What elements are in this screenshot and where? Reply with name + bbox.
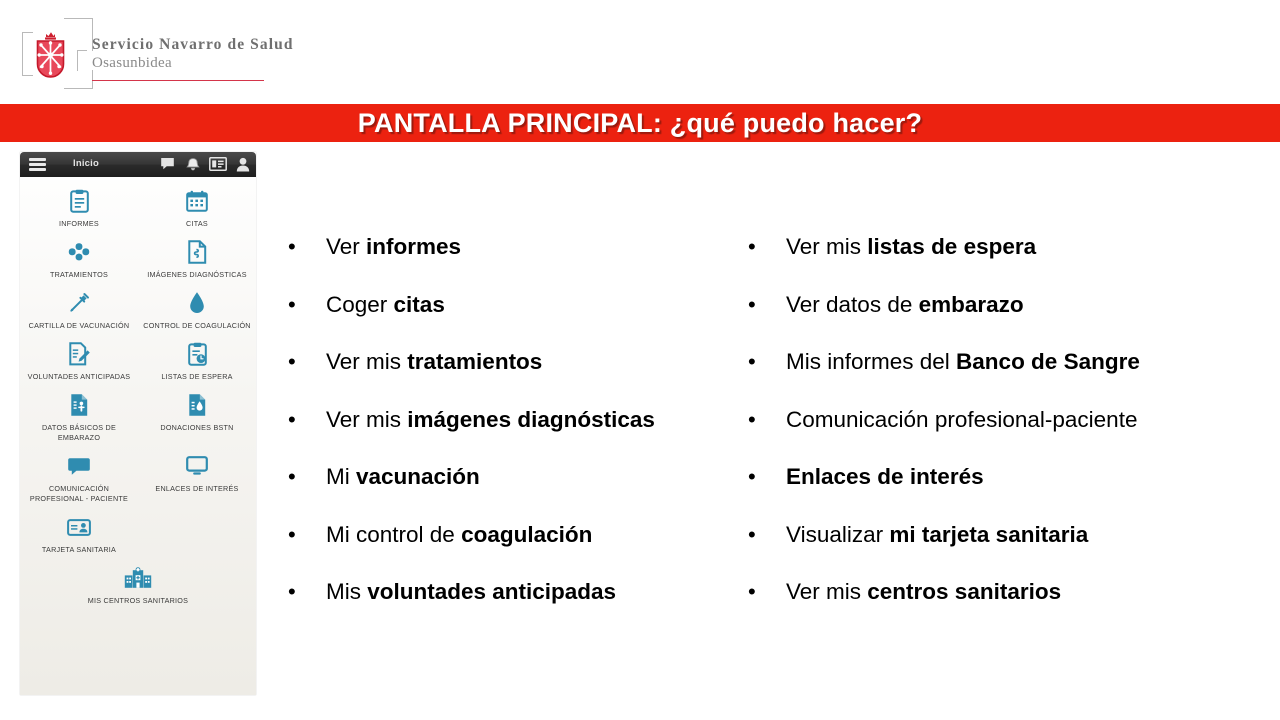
list-item-plain: Ver	[326, 234, 366, 259]
list-item-text: Ver informes	[326, 232, 461, 262]
app-tile-imagenes-diagnosticas[interactable]: IMÁGENES DIAGNÓSTICAS	[138, 235, 256, 286]
app-grid-row: DATOS BÁSICOS DE EMBARAZO	[20, 388, 256, 449]
document-baby-icon	[70, 392, 89, 418]
bullet-glyph: •	[280, 577, 326, 607]
list-item-text: Ver datos de embarazo	[786, 290, 1024, 320]
list-item: • Ver mis tratamientos	[280, 347, 750, 405]
list-item-plain: Mis informes del	[786, 349, 956, 374]
list-item-bold: voluntades anticipadas	[367, 579, 616, 604]
bullet-glyph: •	[740, 290, 786, 320]
id-card-icon[interactable]	[209, 157, 227, 171]
bullet-glyph: •	[740, 577, 786, 607]
app-tile-label: VOLUNTADES ANTICIPADAS	[28, 372, 131, 382]
list-item: • Ver mis listas de espera	[740, 232, 1280, 290]
slide-title-band: PANTALLA PRINCIPAL: ¿qué puedo hacer?	[0, 104, 1280, 142]
list-item-text: Ver mis imágenes diagnósticas	[326, 405, 655, 435]
list-item-plain: Ver mis	[786, 234, 867, 259]
app-tile-tratamientos[interactable]: TRATAMIENTOS	[20, 235, 138, 286]
app-grid-row: CARTILLA DE VACUNACIÓN CONTROL DE COAGUL…	[20, 286, 256, 337]
health-card-icon	[67, 514, 91, 540]
logo-line-servicio: Servicio Navarro de Salud	[92, 36, 292, 54]
list-item-bold: Enlaces de interés	[786, 464, 984, 489]
clipboard-clock-icon	[188, 341, 207, 367]
app-tile-enlaces-interes[interactable]: ENLACES DE INTERÉS	[138, 449, 256, 510]
list-item: • Mis informes del Banco de Sangre	[740, 347, 1280, 405]
blood-drop-icon	[189, 290, 205, 316]
list-item-plain: Ver mis	[786, 579, 867, 604]
app-tile-control-coagulacion[interactable]: CONTROL DE COAGULACIÓN	[138, 286, 256, 337]
logo-bracket-mid	[77, 50, 87, 71]
list-item-text: Ver mis centros sanitarios	[786, 577, 1061, 607]
list-item: • Coger citas	[280, 290, 750, 348]
logo-line-osasunbidea: Osasunbidea	[92, 54, 292, 73]
app-tile-label: DATOS BÁSICOS DE EMBARAZO	[25, 423, 133, 443]
bullet-glyph: •	[740, 405, 786, 435]
mobile-app-screenshot: Inicio	[20, 152, 256, 695]
bell-icon[interactable]	[185, 157, 201, 172]
syringe-icon	[68, 290, 90, 316]
list-item-bold: centros sanitarios	[867, 579, 1061, 604]
navarra-coat-of-arms-icon	[32, 29, 78, 79]
app-grid-row: TARJETA SANITARIA	[20, 510, 256, 561]
list-item-bold: coagulación	[461, 522, 592, 547]
app-tile-label: CONTROL DE COAGULACIÓN	[143, 321, 250, 331]
list-item: • Ver datos de embarazo	[740, 290, 1280, 348]
app-icon-grid: INFORMES CITAS	[20, 177, 256, 612]
bullet-glyph: •	[740, 520, 786, 550]
monitor-icon	[186, 453, 208, 479]
app-grid-row: MIS CENTROS SANITARIOS	[20, 561, 256, 612]
app-grid-row: VOLUNTADES ANTICIPADAS LISTAS DE ESPERA	[20, 337, 256, 388]
document-pencil-icon	[69, 341, 90, 367]
bullet-glyph: •	[280, 232, 326, 262]
logo-text-block: Servicio Navarro de Salud Osasunbidea	[92, 36, 292, 73]
list-item-plain: Mi	[326, 464, 356, 489]
app-grid-row: COMUNICACIÓN PROFESIONAL - PACIENTE ENLA…	[20, 449, 256, 510]
app-tile-informes[interactable]: INFORMES	[20, 184, 138, 235]
user-icon[interactable]	[236, 157, 250, 172]
app-grid-row: INFORMES CITAS	[20, 184, 256, 235]
list-item: • Comunicación profesional-paciente	[740, 405, 1280, 463]
bullet-glyph: •	[280, 290, 326, 320]
list-item-text: Ver mis tratamientos	[326, 347, 542, 377]
app-topbar: Inicio	[20, 152, 256, 177]
calendar-icon	[186, 188, 208, 214]
logo-underline	[92, 80, 264, 81]
app-tile-label: IMÁGENES DIAGNÓSTICAS	[147, 270, 247, 280]
feature-list-right: • Ver mis listas de espera • Ver datos d…	[740, 232, 1280, 635]
page-header: Servicio Navarro de Salud Osasunbidea	[0, 0, 1280, 104]
list-item-text: Ver mis listas de espera	[786, 232, 1036, 262]
app-tile-label: CARTILLA DE VACUNACIÓN	[29, 321, 130, 331]
list-item-text: Comunicación profesional-paciente	[786, 405, 1137, 435]
bullet-glyph: •	[280, 520, 326, 550]
chat-icon[interactable]	[160, 157, 175, 171]
bullet-glyph: •	[280, 405, 326, 435]
app-grid-row: TRATAMIENTOS IMÁGENES DIAGNÓSTICAS	[20, 235, 256, 286]
app-home-label[interactable]: Inicio	[73, 158, 99, 169]
app-tile-comunicacion-profesional-paciente[interactable]: COMUNICACIÓN PROFESIONAL - PACIENTE	[20, 449, 138, 510]
list-item: • Ver mis centros sanitarios	[740, 577, 1280, 635]
document-scan-icon	[188, 239, 207, 265]
list-item-plain: Ver mis	[326, 407, 407, 432]
app-tile-label: TRATAMIENTOS	[50, 270, 108, 280]
document-blood-icon	[188, 392, 207, 418]
app-tile-label: MIS CENTROS SANITARIOS	[88, 596, 188, 606]
bullet-glyph: •	[740, 232, 786, 262]
list-item: • Enlaces de interés	[740, 462, 1280, 520]
app-tile-voluntades-anticipadas[interactable]: VOLUNTADES ANTICIPADAS	[20, 337, 138, 388]
bullet-glyph: •	[740, 462, 786, 492]
list-item-text: Coger citas	[326, 290, 445, 320]
clipboard-icon	[70, 188, 89, 214]
list-item-bold: Banco de Sangre	[956, 349, 1140, 374]
list-item-plain: Mis	[326, 579, 367, 604]
list-item-text: Enlaces de interés	[786, 462, 984, 492]
list-item-plain: Ver mis	[326, 349, 407, 374]
pills-cross-icon	[68, 239, 90, 265]
app-tile-label: DONACIONES BSTN	[160, 423, 233, 433]
app-tile-label: ENLACES DE INTERÉS	[155, 484, 238, 494]
app-tile-datos-embarazo[interactable]: DATOS BÁSICOS DE EMBARAZO	[20, 388, 138, 449]
list-item-text: Visualizar mi tarjeta sanitaria	[786, 520, 1088, 550]
app-tile-listas-espera[interactable]: LISTAS DE ESPERA	[138, 337, 256, 388]
app-tile-cartilla-vacunacion[interactable]: CARTILLA DE VACUNACIÓN	[20, 286, 138, 337]
bullet-glyph: •	[280, 347, 326, 377]
list-item-bold: citas	[394, 292, 445, 317]
app-tile-label: LISTAS DE ESPERA	[161, 372, 232, 382]
feature-list-left: • Ver informes • Coger citas • Ver mis t…	[280, 232, 750, 635]
list-item-text: Mi vacunación	[326, 462, 480, 492]
hospital-icon	[124, 565, 152, 591]
list-item-bold: listas de espera	[867, 234, 1036, 259]
speech-bubble-icon	[68, 453, 90, 479]
app-tile-donaciones-bstn[interactable]: DONACIONES BSTN	[138, 388, 256, 449]
app-tile-mis-centros-sanitarios[interactable]: MIS CENTROS SANITARIOS	[20, 561, 256, 612]
app-tile-label: COMUNICACIÓN PROFESIONAL - PACIENTE	[25, 484, 133, 504]
organization-logo: Servicio Navarro de Salud Osasunbidea	[22, 18, 290, 88]
list-item-plain: Ver datos de	[786, 292, 919, 317]
list-item-text: Mi control de coagulación	[326, 520, 592, 550]
list-item: • Mi control de coagulación	[280, 520, 750, 578]
list-item: • Mis voluntades anticipadas	[280, 577, 750, 635]
list-item-text: Mis informes del Banco de Sangre	[786, 347, 1140, 377]
page-title: PANTALLA PRINCIPAL: ¿qué puedo hacer?	[0, 104, 1280, 142]
bullet-glyph: •	[280, 462, 326, 492]
bullet-glyph: •	[740, 347, 786, 377]
list-item-bold: embarazo	[919, 292, 1024, 317]
list-item-plain: Comunicación profesional-paciente	[786, 407, 1137, 432]
list-item-bold: informes	[366, 234, 461, 259]
app-tile-label: INFORMES	[59, 219, 99, 229]
list-item: • Visualizar mi tarjeta sanitaria	[740, 520, 1280, 578]
hamburger-icon[interactable]	[29, 158, 46, 171]
list-item: • Mi vacunación	[280, 462, 750, 520]
list-item-bold: imágenes diagnósticas	[407, 407, 655, 432]
list-item-text: Mis voluntades anticipadas	[326, 577, 616, 607]
list-item-bold: mi tarjeta sanitaria	[889, 522, 1088, 547]
list-item-plain: Mi control de	[326, 522, 461, 547]
list-item-plain: Visualizar	[786, 522, 889, 547]
list-item: • Ver informes	[280, 232, 750, 290]
list-item-plain: Coger	[326, 292, 394, 317]
app-tile-citas[interactable]: CITAS	[138, 184, 256, 235]
list-item-bold: vacunación	[356, 464, 480, 489]
list-item: • Ver mis imágenes diagnósticas	[280, 405, 750, 463]
app-tile-tarjeta-sanitaria[interactable]: TARJETA SANITARIA	[20, 510, 138, 561]
list-item-bold: tratamientos	[407, 349, 542, 374]
app-tile-label: CITAS	[186, 219, 208, 229]
app-tile-label: TARJETA SANITARIA	[42, 545, 116, 555]
